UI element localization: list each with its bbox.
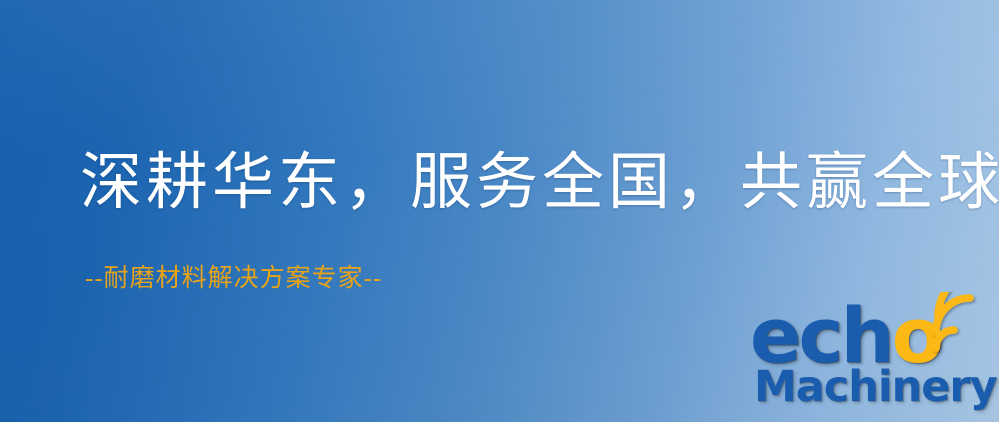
- banner-headline: 深耕华东，服务全国，共赢全球: [80, 152, 999, 214]
- logo-brand-machinery-text: Machinery: [754, 362, 997, 412]
- company-logo[interactable]: echo Machinery®: [748, 296, 999, 422]
- hero-banner: 深耕华东，服务全国，共赢全球 --耐磨材料解决方案专家-- echo Machi…: [0, 0, 999, 422]
- signal-waves-icon: [926, 292, 998, 362]
- banner-subtitle: --耐磨材料解决方案专家--: [85, 266, 382, 291]
- logo-brand-machinery: Machinery®: [754, 364, 999, 415]
